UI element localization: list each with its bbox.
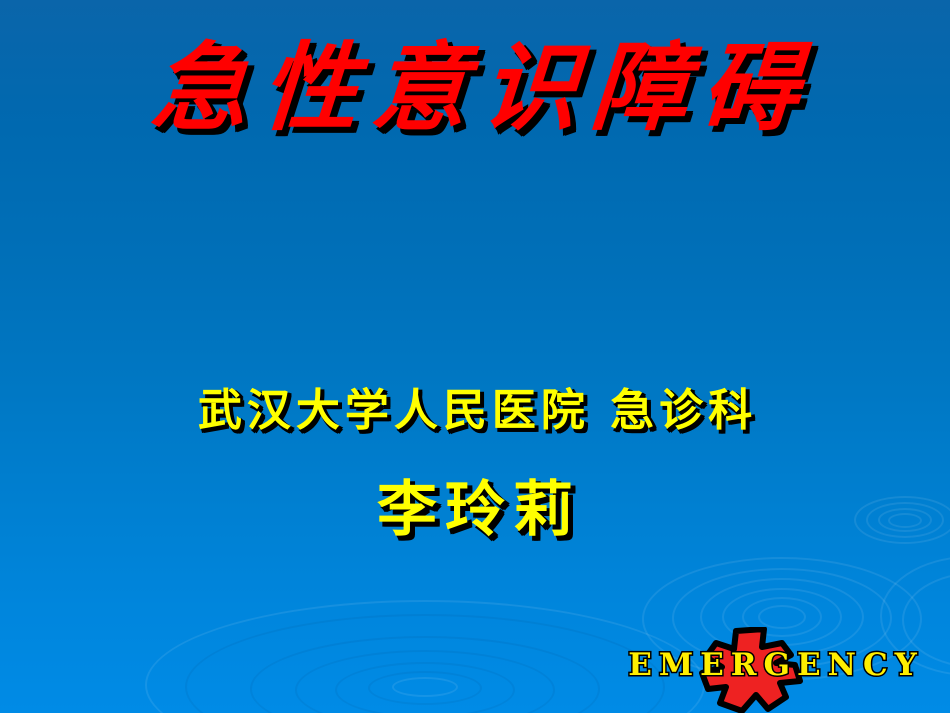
presentation-slide: 急性意识障碍 武汉大学人民医院 急诊科 李玲莉 EMERGENCY (0, 0, 950, 713)
ripple-ring (250, 636, 600, 713)
organization-subtitle: 武汉大学人民医院 急诊科 (193, 374, 757, 438)
page-title: 急性意识障碍 (134, 34, 816, 142)
ripple-ring (368, 671, 482, 705)
ripple-ring (392, 677, 458, 697)
organization-container: 武汉大学人民医院 急诊科 (0, 374, 950, 438)
emergency-logo: EMERGENCY (588, 624, 950, 713)
ripple-ring (295, 650, 555, 713)
slide-title-container: 急性意识障碍 (0, 34, 950, 142)
author-container: 李玲莉 (0, 461, 950, 548)
ripple-ring (335, 662, 515, 713)
emergency-logo-text: EMERGENCY (588, 650, 950, 681)
author-name: 李玲莉 (369, 461, 581, 548)
